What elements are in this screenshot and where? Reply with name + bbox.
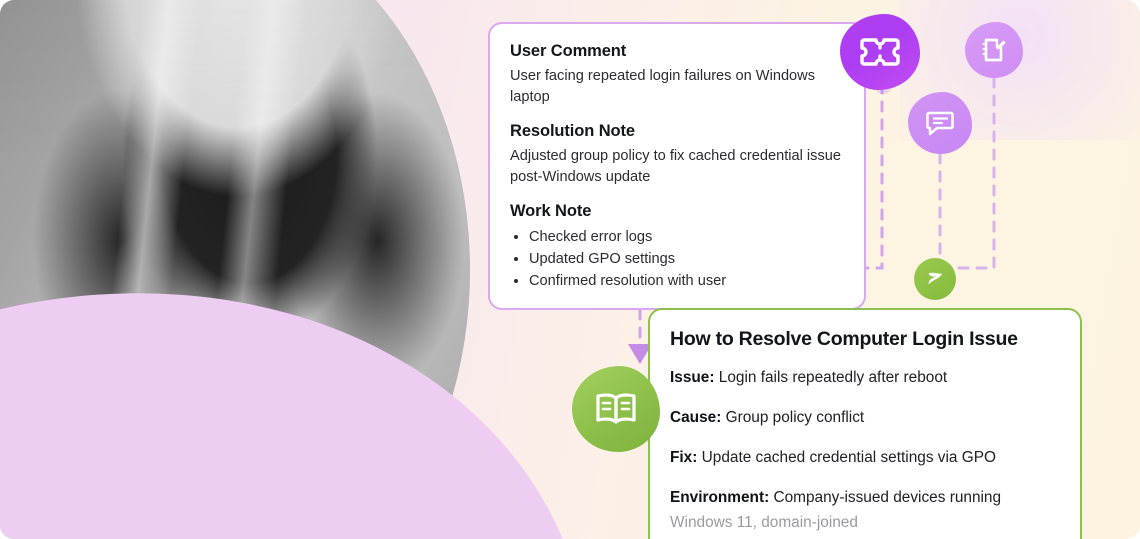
list-item: Checked error logs	[529, 226, 844, 248]
open-book-icon[interactable]	[572, 366, 660, 452]
kb-label-issue: Issue:	[670, 369, 714, 386]
section-heading-user-comment: User Comment	[510, 42, 844, 61]
section-heading-resolution-note: Resolution Note	[510, 122, 844, 141]
notepad-edit-icon[interactable]	[965, 22, 1023, 78]
kb-value-environment: Company-issued devices running	[769, 489, 1001, 506]
kb-row-fix: Fix: Update cached credential settings v…	[670, 447, 1060, 469]
chat-bubble-icon[interactable]	[908, 92, 972, 154]
kb-label-environment: Environment:	[670, 489, 769, 506]
section-heading-work-note: Work Note	[510, 202, 844, 221]
list-item: Confirmed resolution with user	[529, 270, 844, 292]
scene-canvas: User Comment User facing repeated login …	[0, 0, 1140, 539]
kb-value-cause: Group policy conflict	[721, 409, 864, 426]
list-item: Updated GPO settings	[529, 248, 844, 270]
knowledge-article-card: How to Resolve Computer Login Issue Issu…	[648, 308, 1082, 539]
section-body-resolution-note: Adjusted group policy to fix cached cred…	[510, 146, 844, 188]
section-body-user-comment: User facing repeated login failures on W…	[510, 66, 844, 108]
kb-row-cause: Cause: Group policy conflict	[670, 407, 1060, 429]
kb-value-environment-continued: Windows 11, domain-joined	[670, 511, 1060, 535]
kb-row-issue: Issue: Login fails repeatedly after rebo…	[670, 367, 1060, 389]
kb-label-fix: Fix:	[670, 449, 697, 466]
ticket-notes-card: User Comment User facing repeated login …	[488, 22, 866, 310]
kb-value-issue: Login fails repeatedly after reboot	[714, 369, 947, 386]
leaf-badge-icon[interactable]	[914, 258, 956, 300]
work-note-list: Checked error logs Updated GPO settings …	[529, 226, 844, 292]
kb-row-environment: Environment: Company-issued devices runn…	[670, 487, 1060, 535]
page-title: How to Resolve Computer Login Issue	[670, 328, 1060, 351]
kb-value-fix: Update cached credential settings via GP…	[697, 449, 996, 466]
kb-label-cause: Cause:	[670, 409, 721, 426]
ticket-icon[interactable]	[840, 14, 920, 90]
